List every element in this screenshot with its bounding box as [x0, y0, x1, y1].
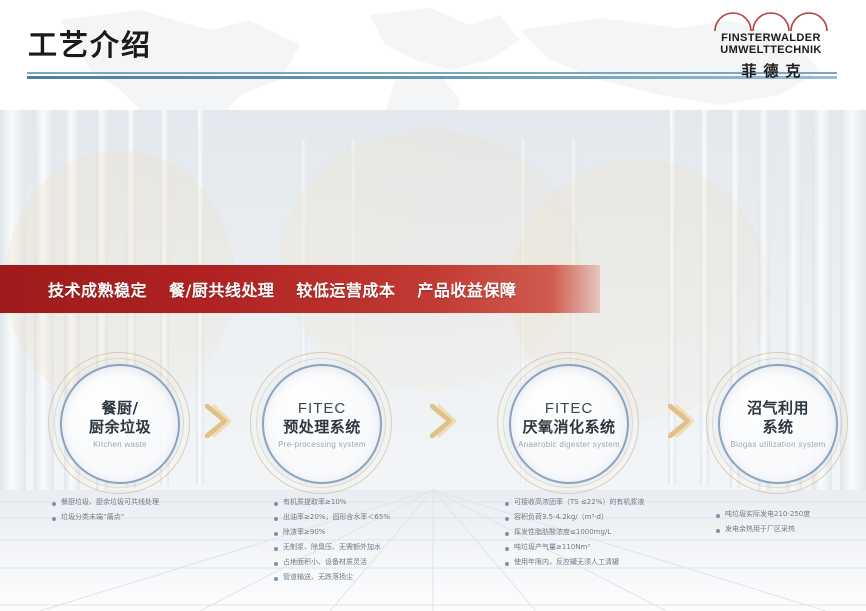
page-header: 工艺介绍 FINSTERWALDER UMWELTTECHNIK 菲德克 [0, 0, 866, 110]
bullet-text: 使用年限内，反应罐无须人工清罐 [514, 558, 619, 567]
bullet-dot-icon [505, 517, 509, 521]
node-title-en: Pre-processing system [278, 440, 366, 449]
highlight-banner: 技术成熟稳定 餐/厨共线处理 较低运营成本 产品收益保障 [0, 265, 600, 313]
bullet-dot-icon [505, 562, 509, 566]
bullet-item: 有机质提取率≥10% [274, 498, 390, 507]
process-node-biogas-utilization[interactable]: 沼气利用 系统 Biogas utilization system [706, 352, 846, 492]
bullet-text: 管道输送、无跌落扬尘 [283, 573, 353, 582]
bullet-dot-icon [716, 529, 720, 533]
bullet-column-preprocessing: 有机质提取率≥10% 出油率≥20%，固形含水率＜65% 除渣率≥90% 无制浆… [274, 498, 390, 588]
node-title-cn-line2: 系统 [762, 418, 793, 437]
node-title-cn-line1: 沼气利用 [747, 399, 809, 418]
bullet-text: 发电余热用于厂区采热 [725, 525, 795, 534]
node-title-cn-line1: 预处理系统 [283, 418, 361, 437]
banner-item-4: 产品收益保障 [417, 277, 516, 301]
bullet-dot-icon [274, 502, 278, 506]
bullet-item: 吨垃圾实际发电210-250度 [716, 510, 810, 519]
bullet-columns: 餐厨垃圾、厨余垃圾可共线处理 垃圾分类末端“痛点” 有机质提取率≥10% 出油率… [0, 498, 866, 608]
bullet-dot-icon [274, 517, 278, 521]
bullet-text: 容积负荷3.5-4.2kg/（m³·d） [514, 513, 608, 522]
flow-arrow-2 [430, 404, 456, 438]
bullet-text: 挥发性脂肪酸浓度≤1000mg/L [514, 528, 611, 537]
bullet-dot-icon [52, 517, 56, 521]
bullet-text: 吨垃圾产气量≥110Nm³ [514, 543, 590, 552]
bullet-dot-icon [505, 547, 509, 551]
bullet-item: 挥发性脂肪酸浓度≤1000mg/L [505, 528, 644, 537]
bullet-column-anaerobic: 可接收高浓固率（TS ≤22%）的有机浆液 容积负荷3.5-4.2kg/（m³·… [505, 498, 644, 573]
bullet-column-kitchen-waste: 餐厨垃圾、厨余垃圾可共线处理 垃圾分类末端“痛点” [52, 498, 159, 528]
bullet-text: 餐厨垃圾、厨余垃圾可共线处理 [61, 498, 159, 507]
bullet-text: 除渣率≥90% [283, 528, 325, 537]
bullet-item: 使用年限内，反应罐无须人工清罐 [505, 558, 644, 567]
bullet-dot-icon [274, 562, 278, 566]
bullet-item: 容积负荷3.5-4.2kg/（m³·d） [505, 513, 644, 522]
flow-arrow-1 [205, 404, 231, 438]
node-title-en: Kitchen waste [93, 440, 147, 449]
bullet-text: 吨垃圾实际发电210-250度 [725, 510, 810, 519]
content-stage: 技术成熟稳定 餐/厨共线处理 较低运营成本 产品收益保障 餐厨/ 厨余垃圾 Ki… [0, 110, 866, 611]
banner-item-2: 餐/厨共线处理 [169, 277, 274, 301]
logo-text-chinese: 菲德克 [696, 60, 846, 81]
bullet-dot-icon [274, 532, 278, 536]
bullet-column-biogas: 吨垃圾实际发电210-250度 发电余热用于厂区采热 [716, 510, 810, 540]
bullet-dot-icon [505, 502, 509, 506]
bullet-text: 有机质提取率≥10% [283, 498, 346, 507]
bullet-item: 餐厨垃圾、厨余垃圾可共线处理 [52, 498, 159, 507]
bullet-text: 无制浆、除臭压、无需额外加水 [283, 543, 381, 552]
logo-text-line1: FINSTERWALDER [696, 32, 846, 44]
bullet-dot-icon [274, 547, 278, 551]
bullet-dot-icon [52, 502, 56, 506]
bullet-item: 无制浆、除臭压、无需额外加水 [274, 543, 390, 552]
node-title-cn-line2: 厨余垃圾 [89, 418, 151, 437]
node-title-cn-line1: 餐厨/ [102, 399, 139, 418]
bullet-text: 可接收高浓固率（TS ≤22%）的有机浆液 [514, 498, 644, 507]
bullet-text: 占地面积小、设备材质灵活 [283, 558, 367, 567]
banner-item-1: 技术成熟稳定 [48, 277, 147, 301]
node-title-cn-line1: 厌氧消化系统 [522, 418, 615, 437]
node-brand-fitec: FITEC [545, 400, 593, 418]
flow-arrow-3 [668, 404, 694, 438]
logo-arcs-icon [696, 10, 846, 32]
bullet-item: 吨垃圾产气量≥110Nm³ [505, 543, 644, 552]
page-title: 工艺介绍 [28, 22, 152, 64]
bullet-item: 除渣率≥90% [274, 528, 390, 537]
process-node-kitchen-waste[interactable]: 餐厨/ 厨余垃圾 Kitchen waste [48, 352, 188, 492]
bullet-text: 出油率≥20%，固形含水率＜65% [283, 513, 390, 522]
bullet-dot-icon [505, 532, 509, 536]
node-title-en: Anaerobic digester system [518, 440, 620, 449]
bullet-dot-icon [716, 514, 720, 518]
process-node-preprocessing[interactable]: FITEC 预处理系统 Pre-processing system [250, 352, 390, 492]
logo-text-line2: UMWELTTECHNIK [696, 44, 846, 56]
company-logo: FINSTERWALDER UMWELTTECHNIK 菲德克 [696, 10, 846, 81]
node-ring-main: 沼气利用 系统 Biogas utilization system [718, 364, 838, 484]
node-title-en: Biogas utilization system [730, 440, 825, 449]
banner-item-3: 较低运营成本 [296, 277, 395, 301]
process-flow: 餐厨/ 厨余垃圾 Kitchen waste FITEC 预处理系统 Pre-p… [0, 342, 866, 512]
node-ring-main: 餐厨/ 厨余垃圾 Kitchen waste [60, 364, 180, 484]
bullet-item: 占地面积小、设备材质灵活 [274, 558, 390, 567]
node-brand-fitec: FITEC [298, 400, 346, 418]
bullet-item: 管道输送、无跌落扬尘 [274, 573, 390, 582]
node-ring-main: FITEC 厌氧消化系统 Anaerobic digester system [509, 364, 629, 484]
bullet-item: 可接收高浓固率（TS ≤22%）的有机浆液 [505, 498, 644, 507]
process-node-anaerobic-digester[interactable]: FITEC 厌氧消化系统 Anaerobic digester system [497, 352, 637, 492]
bullet-dot-icon [274, 577, 278, 581]
bullet-item: 垃圾分类末端“痛点” [52, 513, 159, 522]
node-ring-main: FITEC 预处理系统 Pre-processing system [262, 364, 382, 484]
bullet-text: 垃圾分类末端“痛点” [61, 513, 124, 522]
bullet-item: 发电余热用于厂区采热 [716, 525, 810, 534]
bullet-item: 出油率≥20%，固形含水率＜65% [274, 513, 390, 522]
